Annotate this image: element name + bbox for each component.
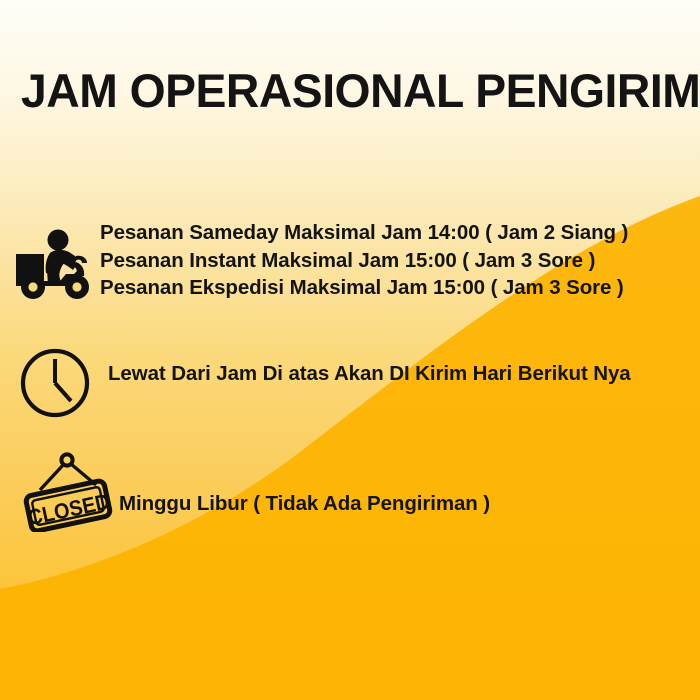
sunday-closed-text: Minggu Libur ( Tidak Ada Pengiriman ) [119,491,490,517]
delivery-scooter-icon [14,228,98,302]
late-order-text: Lewat Dari Jam Di atas Akan DI Kirim Har… [108,361,631,387]
cutoff-line-sameday: Pesanan Sameday Maksimal Jam 14:00 ( Jam… [100,219,628,247]
cutoff-line-instant: Pesanan Instant Maksimal Jam 15:00 ( Jam… [100,247,628,275]
cutoff-line-ekspedisi: Pesanan Ekspedisi Maksimal Jam 15:00 ( J… [100,274,628,302]
operating-hours-poster: JAM OPERASIONAL PENGIRIMAN [0,0,700,700]
clock-icon [19,347,91,419]
delivery-cutoff-text-group: Pesanan Sameday Maksimal Jam 14:00 ( Jam… [100,219,628,302]
page-title: JAM OPERASIONAL PENGIRIMAN [21,66,700,116]
closed-sign-icon: CLOSED [20,452,116,532]
